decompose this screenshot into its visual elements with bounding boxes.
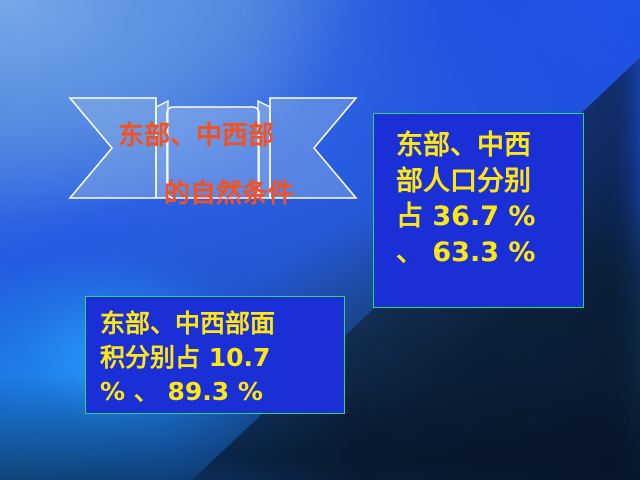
population-share-line-2: 部人口分别 (396, 164, 573, 200)
area-share-line-3: % 、 89.3 % (100, 375, 338, 409)
population-share-box[interactable]: 东部、中西 部人口分别 占 36.7 % 、 63.3 % (373, 113, 584, 308)
area-share-line-1: 东部、中西部面 (100, 307, 338, 341)
area-share-box[interactable]: 东部、中西部面 积分别占 10.7 % 、 89.3 % (85, 296, 345, 414)
ribbon-title-line-1: 东部、中西部 (118, 121, 274, 151)
presentation-slide: 东部、中西部 的自然条件 东部、中西 部人口分别 占 36.7 % 、 63.3… (0, 0, 640, 480)
population-share-line-4: 、 63.3 % (396, 235, 573, 271)
ribbon-title-line-2: 的自然条件 (118, 176, 350, 214)
ribbon-title-text: 东部、中西部 的自然条件 (118, 118, 350, 213)
population-share-line-3: 占 36.7 % (396, 199, 573, 235)
population-share-line-1: 东部、中西 (396, 128, 573, 164)
area-share-line-2: 积分别占 10.7 (100, 341, 338, 375)
